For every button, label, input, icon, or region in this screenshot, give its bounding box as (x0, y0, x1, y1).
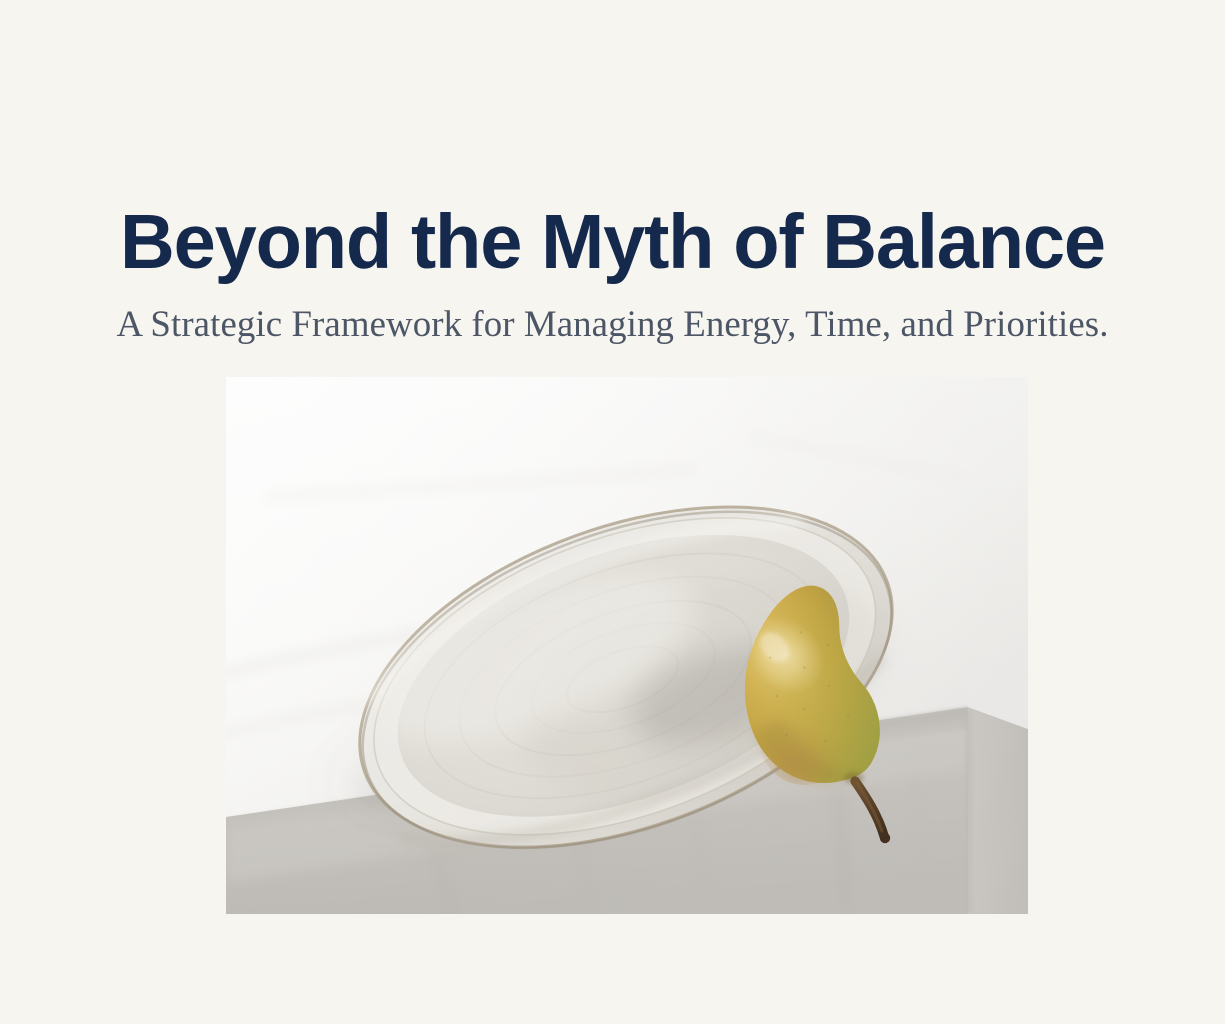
page-title: Beyond the Myth of Balance (9, 204, 1216, 281)
pear-on-plate-illustration (226, 377, 1028, 914)
page-subtitle: A Strategic Framework for Managing Energ… (3, 305, 1222, 346)
hero-image (226, 377, 1028, 914)
slide-canvas: Beyond the Myth of Balance A Strategic F… (0, 0, 1225, 1024)
